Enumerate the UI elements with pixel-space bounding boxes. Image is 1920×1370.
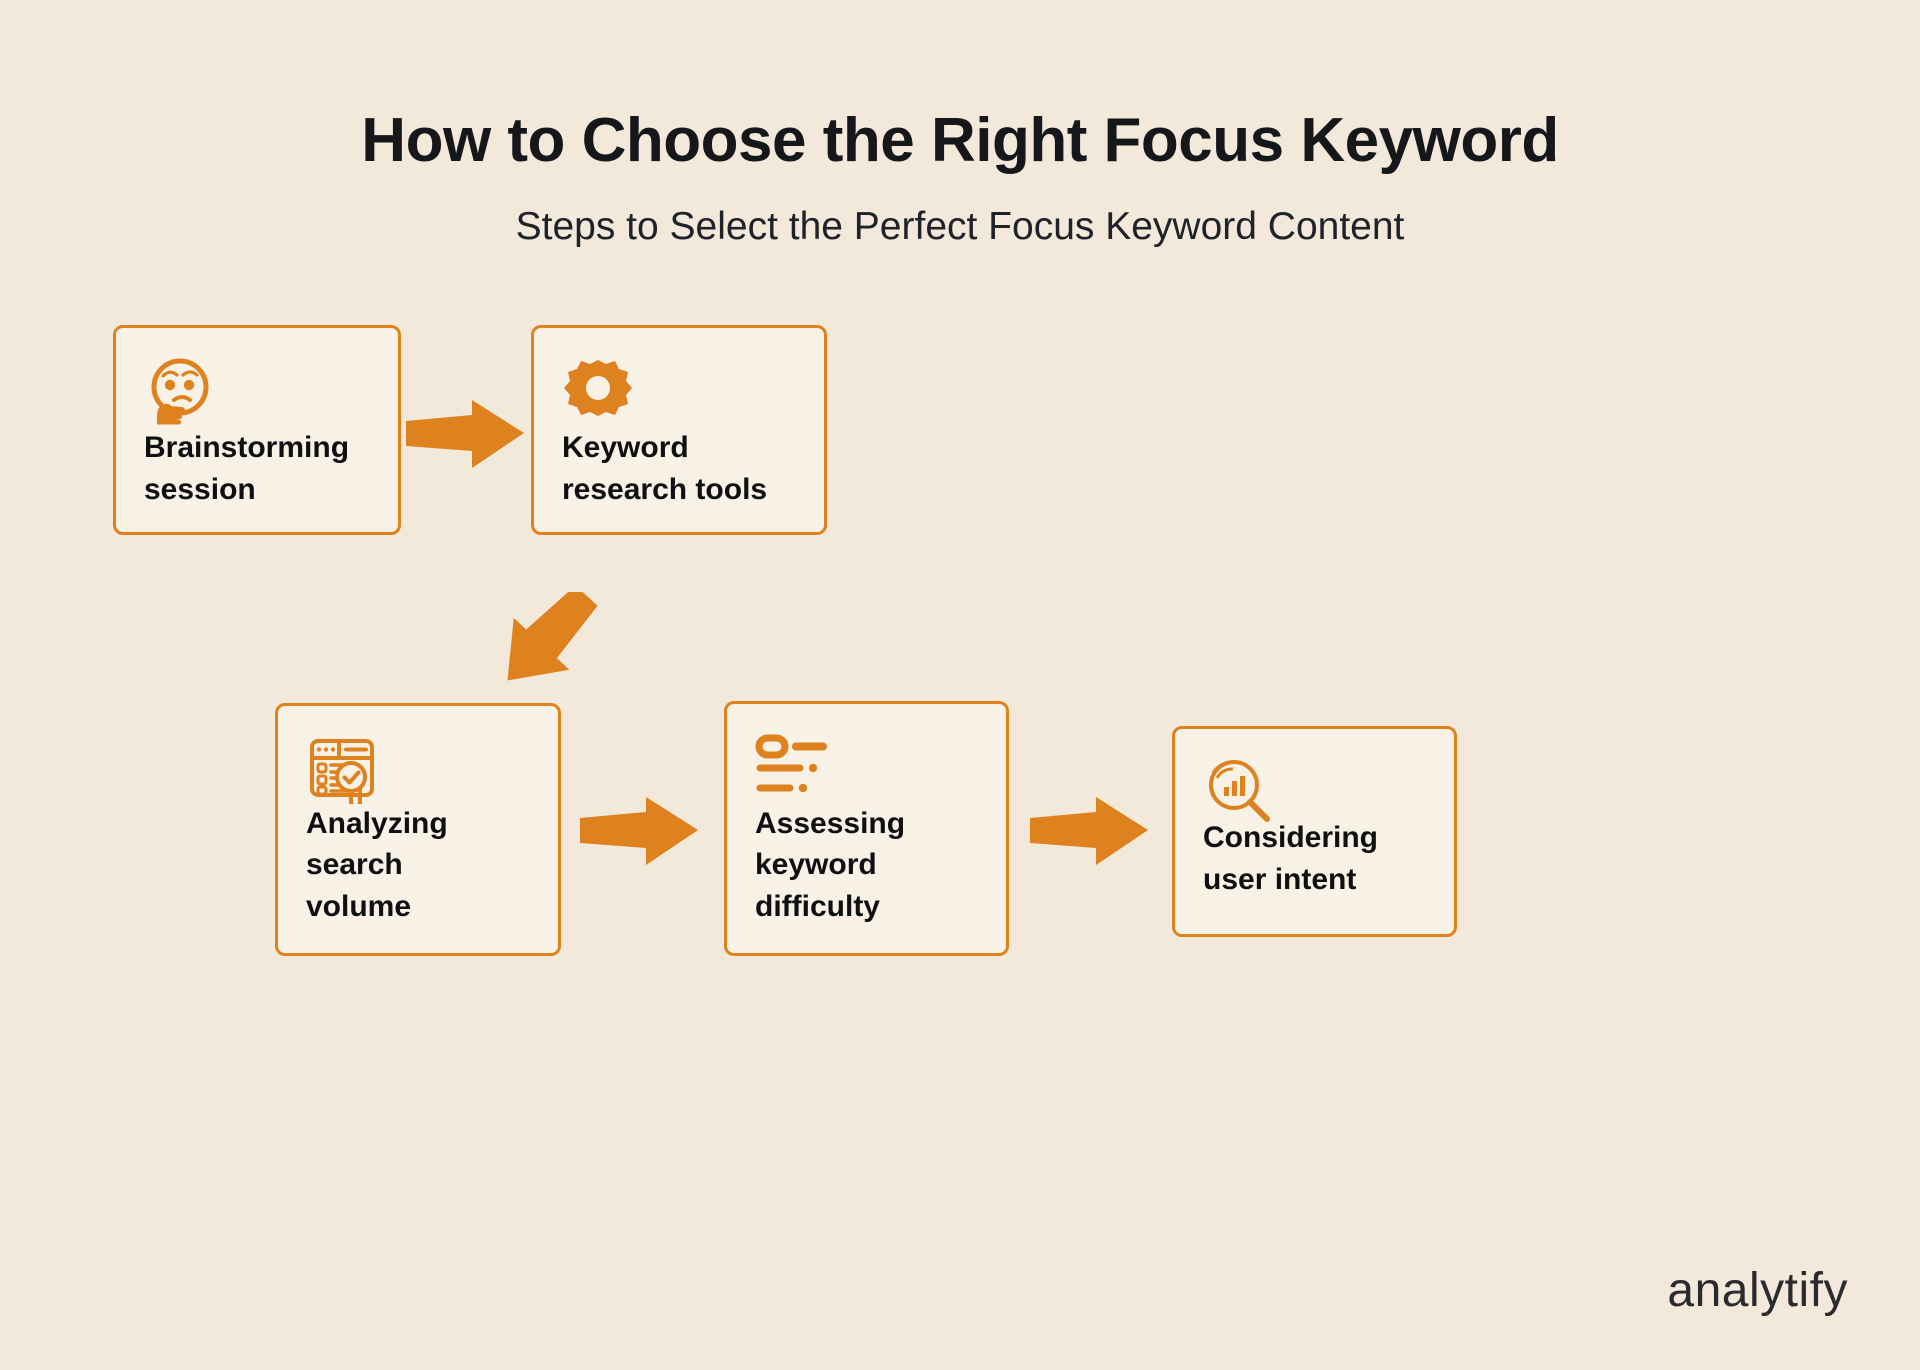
step-card-label: Assessing keyword difficulty: [755, 803, 992, 927]
step-card-label: Analyzing search volume: [306, 803, 544, 927]
step-card-keyword-research-tools[interactable]: Keyword research tools: [531, 325, 827, 535]
magnifier-bar-chart-icon: [1203, 755, 1275, 827]
step-card-label: Considering user intent: [1203, 817, 1440, 900]
step-card-label: Brainstorming session: [144, 427, 384, 510]
arrow-right-icon: [406, 400, 524, 468]
search-results-check-icon: [306, 732, 378, 804]
arrow-right-icon: [1030, 797, 1148, 865]
step-card-assessing-keyword-difficulty[interactable]: Assessing keyword difficulty: [724, 701, 1009, 956]
step-card-label: Keyword research tools: [562, 427, 810, 510]
arrow-down-left-icon: [485, 592, 609, 684]
thinking-face-icon: [144, 354, 216, 426]
analytify-logo: analytify: [1667, 1263, 1848, 1318]
page-title: How to Choose the Right Focus Keyword: [0, 105, 1920, 176]
infographic-canvas: How to Choose the Right Focus Keyword St…: [0, 0, 1920, 1370]
step-card-analyzing-search-volume[interactable]: Analyzing search volume: [275, 703, 561, 956]
step-card-considering-user-intent[interactable]: Considering user intent: [1172, 726, 1457, 937]
gear-icon: [562, 354, 634, 426]
arrow-right-icon: [580, 797, 698, 865]
ranking-list-icon: [755, 730, 827, 802]
step-card-brainstorming-session[interactable]: Brainstorming session: [113, 325, 401, 535]
page-subtitle: Steps to Select the Perfect Focus Keywor…: [0, 205, 1920, 249]
